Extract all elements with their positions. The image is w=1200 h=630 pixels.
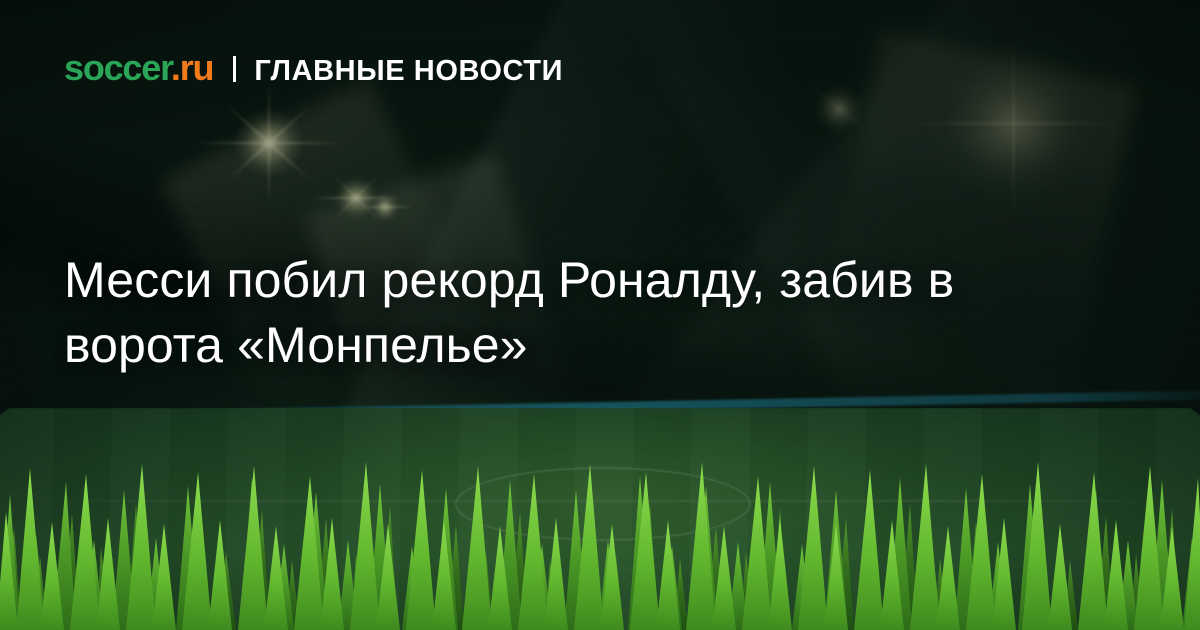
article-headline: Месси побил рекорд Роналду, забив в воро… — [64, 248, 1124, 378]
logo-text-soccer: soccer — [64, 47, 171, 88]
site-header: soccer.ru ГЛАВНЫЕ НОВОСТИ — [64, 50, 563, 86]
header-separator-icon — [233, 56, 236, 82]
header-kicker: ГЛАВНЫЕ НОВОСТИ — [254, 57, 563, 86]
logo-text-ru: .ru — [171, 47, 213, 88]
site-logo[interactable]: soccer.ru — [64, 50, 213, 86]
news-share-card: soccer.ru ГЛАВНЫЕ НОВОСТИ Месси побил ре… — [0, 0, 1200, 630]
